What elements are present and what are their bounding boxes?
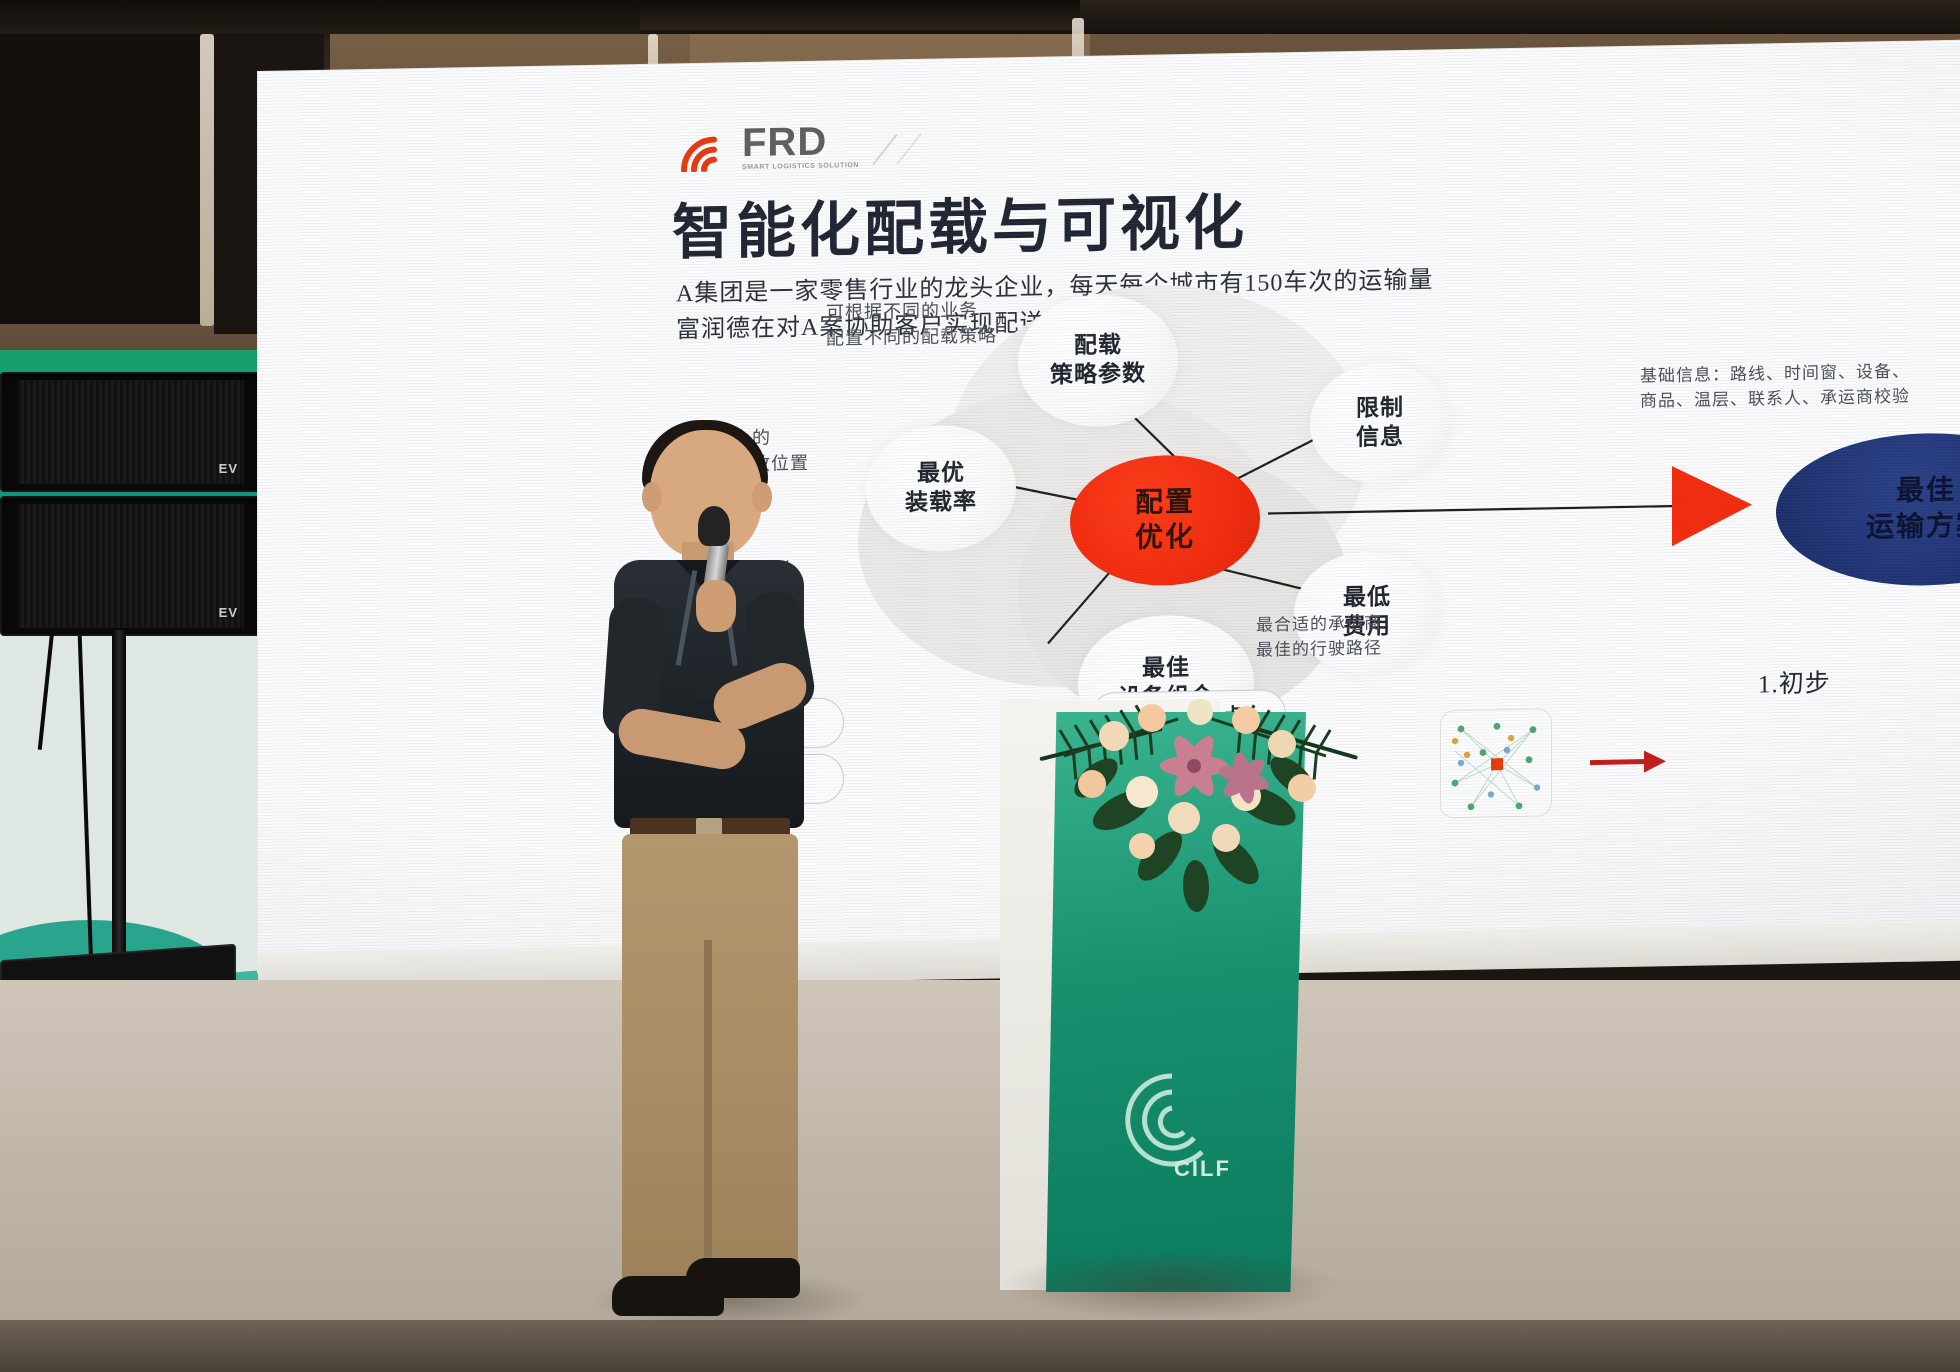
right-arrow-icon (1588, 746, 1668, 782)
annotation-base-info-note: 基础信息：路线、时间窗、设备、 商品、温层、联系人、承运商校验 (1640, 360, 1910, 414)
photo-scene: EV EV FRD SMART LOGISTICS SOLUTI (0, 0, 1960, 1372)
speaker-person (600, 420, 840, 1320)
speaker-grille (18, 504, 244, 628)
hand-on-mic (696, 580, 736, 632)
svg-text:CILF: CILF (1174, 1156, 1231, 1181)
result-label: 最佳运输方案 (1866, 472, 1960, 547)
hub-label: 配置优化 (1135, 485, 1195, 556)
cilf-swirl-icon: CILF (1100, 1060, 1250, 1190)
pa-brand-label: EV (219, 461, 238, 476)
pa-brand-label: EV (219, 605, 238, 620)
right-triangle-arrow-icon (1666, 457, 1756, 560)
speaker-grille (18, 380, 244, 484)
route-network-icon (1440, 708, 1552, 818)
wall-dark-recess (0, 34, 200, 324)
shoe-right (686, 1258, 800, 1298)
flower-bouquet (1030, 660, 1360, 930)
ceiling-light-strip (200, 34, 214, 326)
ear (752, 482, 772, 512)
node-label: 限制信息 (1356, 394, 1404, 452)
podium-shadow (1000, 1250, 1340, 1320)
trouser-seam (704, 940, 712, 1294)
node-label: 配载策略参数 (1050, 331, 1146, 390)
handheld-microphone-icon (698, 506, 730, 546)
node-label: 最优装载率 (905, 459, 977, 518)
pa-speaker-bottom: EV (0, 496, 262, 636)
pa-speaker-top: EV (0, 372, 262, 492)
stage-floor (0, 980, 1960, 1372)
ear (642, 482, 662, 512)
foliage (1030, 660, 1360, 930)
stage-front-edge (0, 1320, 1960, 1372)
annotation-strategy-note: 可根据不同的业务 配置不同的配载策略 (826, 296, 997, 351)
footer-step-label: 1.初步 (1758, 663, 1831, 700)
annotation-carrier-route-note: 最合适的承运商 最佳的行驶路径 (1256, 611, 1382, 663)
ceiling-slat (640, 0, 1080, 30)
